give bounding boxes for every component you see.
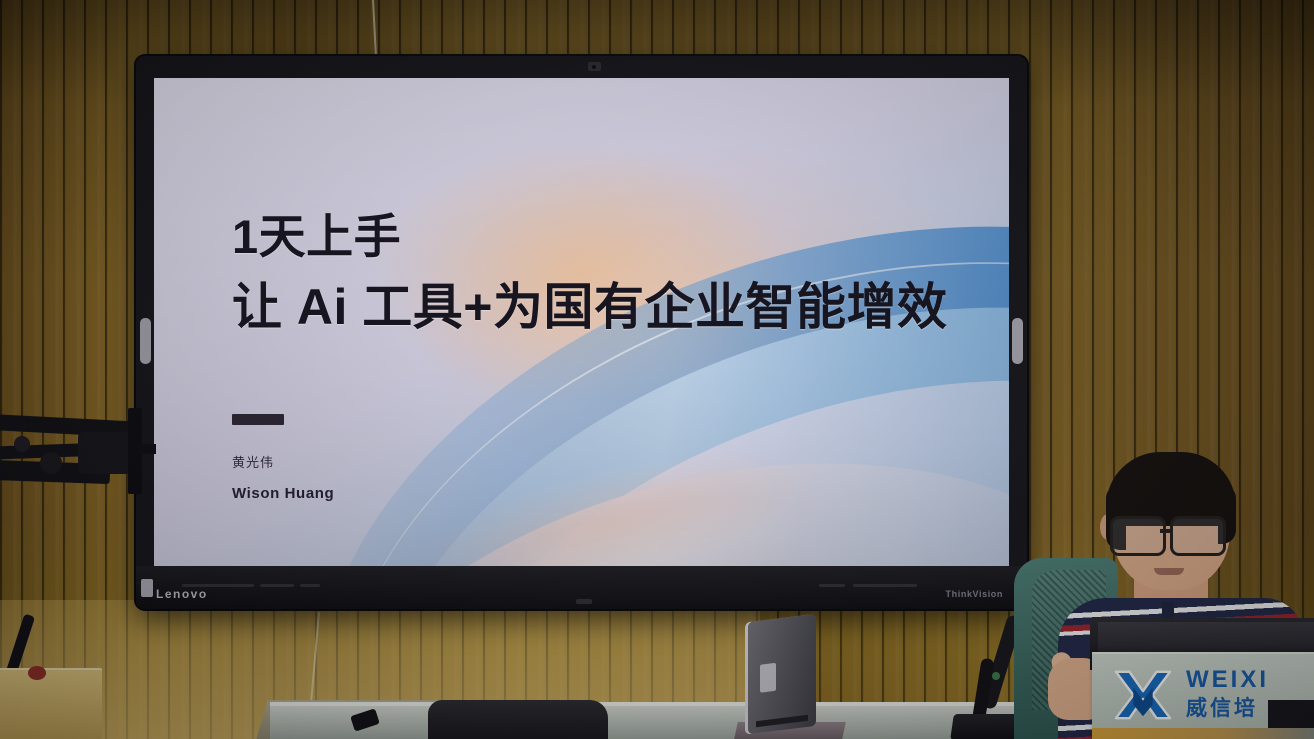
power-button[interactable] (141, 579, 153, 597)
webcam-icon (588, 62, 601, 71)
ir-receiver-icon (576, 599, 592, 604)
rig-arm (138, 444, 156, 454)
banner-text-en: WEIXI (1186, 668, 1269, 692)
slide-title-line-2: 让 Ai 工具+为国有企业智能增效 (232, 281, 947, 334)
glasses-bridge (1160, 529, 1172, 533)
slide-byline: 黄光伟 Wison Huang (232, 452, 334, 502)
slide-title-block: 1天上手 让 Ai 工具+为国有企业智能增效 (232, 212, 947, 334)
weixin-banner-text: WEIXI 威信培 (1186, 668, 1269, 719)
backpack-icon (428, 700, 608, 739)
camera-rig-icon (0, 392, 160, 522)
rig-lens (40, 452, 62, 474)
slide-title-line-1: 1天上手 (232, 212, 947, 261)
lens-left (1110, 516, 1166, 556)
mic-indicator-light (992, 672, 1000, 680)
tablet-label (760, 663, 776, 693)
slide-accent-rule (232, 414, 284, 425)
rig-knob (14, 436, 30, 452)
lenovo-brand-label: Lenovo (156, 587, 208, 601)
banner-text-cn: 威信培 (1186, 698, 1269, 719)
lecture-room-scene: 1天上手 让 Ai 工具+为国有企业智能增效 黄光伟 Wison Huang L… (0, 0, 1314, 739)
lens-right (1170, 516, 1226, 556)
display-bottom-bezel: Lenovo ThinkVision (136, 566, 1027, 609)
display-top-bezel (136, 56, 1027, 78)
presentation-screen[interactable]: 1天上手 让 Ai 工具+为国有企业智能增效 黄光伟 Wison Huang (154, 78, 1009, 566)
display-vent (300, 584, 320, 587)
wooden-podium (0, 668, 102, 739)
display-side-button-left[interactable] (140, 318, 151, 364)
display-vent (853, 584, 917, 587)
tablet-stand-icon[interactable] (748, 614, 816, 734)
presenter-name-en: Wison Huang (232, 485, 334, 502)
display-side-button-right[interactable] (1012, 318, 1023, 364)
rig-body (78, 432, 134, 474)
microphone-head-icon (28, 666, 46, 680)
banner-bottom-strip (1092, 728, 1314, 739)
eyeglasses-icon (1110, 516, 1234, 550)
display-vent (260, 584, 294, 587)
weixin-w-logo-icon (1112, 666, 1174, 724)
tablet-hinge (756, 715, 808, 727)
display-vent (819, 584, 845, 587)
thinkvision-brand-label: ThinkVision (946, 589, 1003, 599)
banner-shadow (1268, 700, 1314, 728)
interactive-display[interactable]: 1天上手 让 Ai 工具+为国有企业智能增效 黄光伟 Wison Huang L… (136, 56, 1027, 609)
mouth (1154, 568, 1184, 575)
presenter-name-cn: 黄光伟 (232, 452, 334, 471)
weixin-banner: WEIXI 威信培 (1092, 652, 1314, 739)
